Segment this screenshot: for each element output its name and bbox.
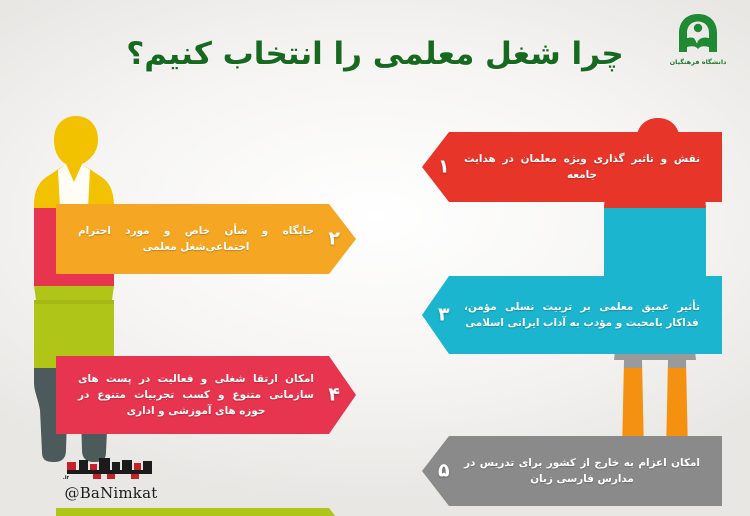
- benefit-arrow-3[interactable]: ۳تأثیر عمیق معلمی بر تربیت نسلی مؤمن، فد…: [422, 276, 722, 354]
- benefit-row: ۱نقش و تاثیر گذاری ویژه معلمان در هدایت …: [0, 132, 750, 202]
- benefit-arrow-2[interactable]: ۲جایگاه و شأن خاص و مورد احترام اجتماعی‌…: [56, 204, 356, 274]
- benefit-text-2: جایگاه و شأن خاص و مورد احترام اجتماعی‌ش…: [78, 223, 314, 255]
- benefit-number-2: ۲: [328, 230, 340, 249]
- svg-text:BaNimkat.ir: BaNimkat.ir: [63, 475, 70, 481]
- banimkat-handle: @BaNimkat: [36, 484, 186, 502]
- benefit-text-3: تأثیر عمیق معلمی بر تربیت نسلی مؤمن، فدا…: [464, 299, 700, 331]
- benefit-row: ۲جایگاه و شأن خاص و مورد احترام اجتماعی‌…: [0, 204, 750, 274]
- benefit-text-4: امکان ارتقا شغلی و فعالیت در پست های ساز…: [78, 371, 314, 419]
- footer-branding: BaNimkat.ir @BaNimkat: [36, 456, 186, 502]
- banimkat-logo-icon: BaNimkat.ir: [36, 456, 186, 482]
- benefit-number-5: ۵: [438, 462, 450, 481]
- benefit-arrow-5[interactable]: ۵امکان اعزام به خارج از کشور برای تدریس …: [422, 436, 722, 506]
- benefit-number-4: ۴: [328, 386, 340, 405]
- benefit-row: ۴امکان ارتقا شغلی و فعالیت در پست های سا…: [0, 356, 750, 434]
- infographic-canvas: چرا شغل معلمی را انتخاب کنیم؟ دانشگاه فر…: [0, 0, 750, 516]
- benefit-row: ۶یکی از بهترین راه های خدمت به محرومین و…: [0, 508, 750, 516]
- benefit-arrow-6[interactable]: ۶یکی از بهترین راه های خدمت به محرومین و…: [56, 508, 356, 516]
- benefit-number-3: ۳: [438, 306, 450, 325]
- benefit-text-1: نقش و تاثیر گذاری ویژه معلمان در هدایت ج…: [464, 151, 700, 183]
- benefit-arrow-4[interactable]: ۴امکان ارتقا شغلی و فعالیت در پست های سا…: [56, 356, 356, 434]
- benefit-row: ۳تأثیر عمیق معلمی بر تربیت نسلی مؤمن، فد…: [0, 276, 750, 354]
- benefit-text-5: امکان اعزام به خارج از کشور برای تدریس د…: [464, 455, 700, 487]
- benefit-number-1: ۱: [438, 158, 450, 177]
- benefit-arrow-1[interactable]: ۱نقش و تاثیر گذاری ویژه معلمان در هدایت …: [422, 132, 722, 202]
